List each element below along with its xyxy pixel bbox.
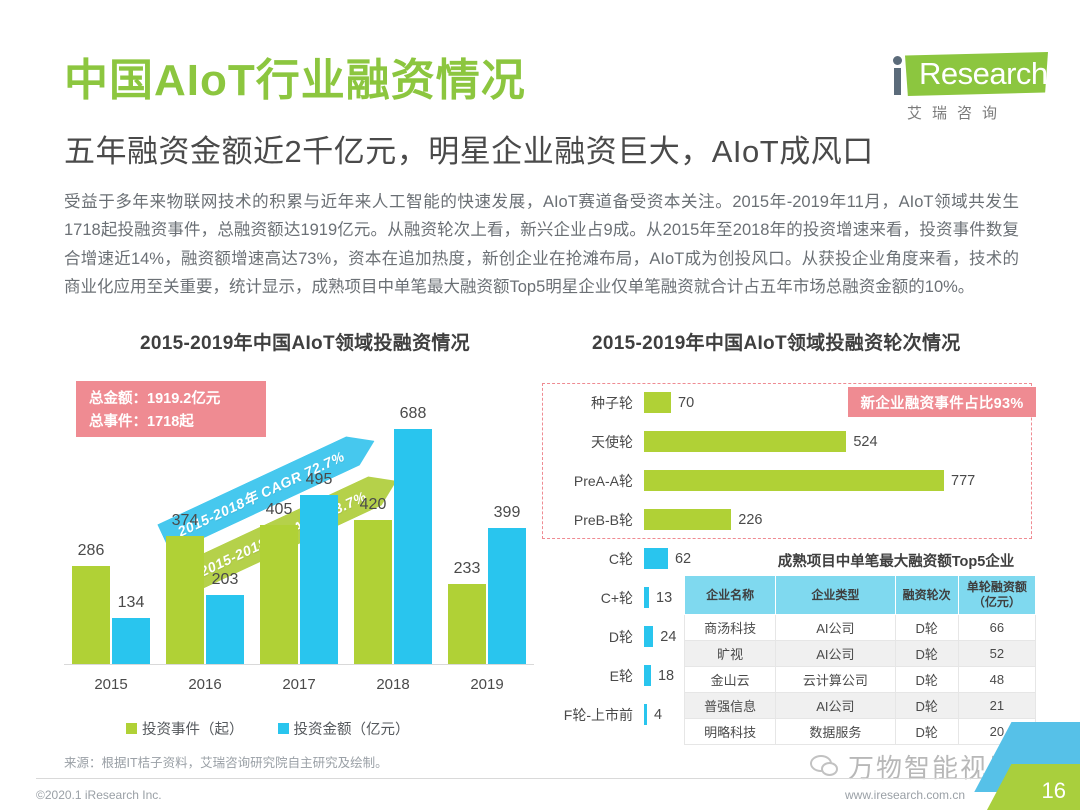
legend-swatch-icon bbox=[278, 723, 289, 734]
round-bar bbox=[644, 665, 651, 686]
bar-amount: 399 bbox=[488, 528, 526, 665]
x-tick-label: 2015 bbox=[64, 676, 158, 693]
table-cell: 52 bbox=[958, 641, 1035, 667]
slide-page: Research 艾瑞咨询 中国AIoT行业融资情况 五年融资金额近2千亿元，明… bbox=[0, 0, 1080, 810]
bar-value-label: 399 bbox=[494, 504, 521, 522]
bar-value-label: 203 bbox=[212, 571, 239, 589]
round-value-label: 524 bbox=[853, 434, 877, 450]
funding-round-row: PreB-B轮226 bbox=[542, 500, 1036, 539]
website-url: www.iresearch.com.cn bbox=[845, 788, 965, 802]
round-label: 天使轮 bbox=[542, 432, 644, 452]
table-cell: 明略科技 bbox=[685, 719, 776, 745]
funding-round-row: PreA-A轮777 bbox=[542, 461, 1036, 500]
round-bar bbox=[644, 704, 647, 725]
legend-label: 投资事件（起） bbox=[142, 718, 244, 739]
bar-value-label: 420 bbox=[360, 496, 387, 514]
round-label: E轮 bbox=[542, 666, 644, 686]
x-tick-label: 2018 bbox=[346, 676, 440, 693]
round-value-label: 4 bbox=[654, 707, 662, 723]
round-value-label: 13 bbox=[656, 590, 672, 606]
bar-value-label: 286 bbox=[78, 542, 105, 560]
bar-amount: 134 bbox=[112, 618, 150, 664]
round-value-label: 70 bbox=[678, 395, 694, 411]
bar-value-label: 374 bbox=[172, 512, 199, 530]
investment-bar-chart: 总金额：1919.2亿元 总事件：1718起 2015-2018年 CAGR 7… bbox=[64, 365, 534, 735]
bar-amount: 688 bbox=[394, 429, 432, 664]
footer-divider bbox=[36, 778, 1044, 779]
bar-group: 374203 bbox=[158, 404, 252, 664]
round-bar bbox=[644, 470, 944, 491]
funding-round-row: 种子轮70 bbox=[542, 383, 1036, 422]
round-label: PreA-A轮 bbox=[542, 471, 644, 491]
right-chart-title: 2015-2019年中国AIoT领域投融资轮次情况 bbox=[592, 328, 961, 355]
table-header-cell: 企业类型 bbox=[776, 576, 895, 615]
logo-chinese-name: 艾瑞咨询 bbox=[907, 102, 1047, 123]
round-label: 种子轮 bbox=[542, 393, 644, 413]
table-header-row: 企业名称企业类型融资轮次单轮融资额（亿元） bbox=[685, 576, 1036, 615]
x-tick-label: 2017 bbox=[252, 676, 346, 693]
round-bar bbox=[644, 548, 668, 569]
page-number: 16 bbox=[1042, 778, 1066, 804]
bar-value-label: 495 bbox=[306, 471, 333, 489]
round-bar bbox=[644, 392, 671, 413]
table-header-cell: 融资轮次 bbox=[895, 576, 958, 615]
table-cell: 旷视 bbox=[685, 641, 776, 667]
logo-wordmark: Research bbox=[919, 56, 1048, 92]
round-bar bbox=[644, 431, 846, 452]
table-cell: D轮 bbox=[895, 719, 958, 745]
bar-amount: 203 bbox=[206, 595, 244, 664]
bar-events: 374 bbox=[166, 536, 204, 664]
table-cell: 普强信息 bbox=[685, 693, 776, 719]
bar-group: 420688 bbox=[346, 404, 440, 664]
wechat-icon bbox=[810, 755, 840, 779]
bar-value-label: 405 bbox=[266, 501, 293, 519]
page-title: 中国AIoT行业融资情况 bbox=[64, 58, 526, 104]
bar-value-label: 688 bbox=[400, 405, 427, 423]
table-cell: 66 bbox=[958, 615, 1035, 641]
round-label: C+轮 bbox=[542, 588, 644, 608]
round-bar bbox=[644, 587, 649, 608]
copyright-text: ©2020.1 iResearch Inc. bbox=[36, 788, 162, 802]
corner-decoration: 16 bbox=[970, 722, 1080, 810]
logo-i-dot-icon bbox=[893, 56, 902, 65]
left-chart-title: 2015-2019年中国AIoT领域投融资情况 bbox=[140, 328, 470, 355]
table-row: 商汤科技AI公司D轮66 bbox=[685, 615, 1036, 641]
table-cell: 云计算公司 bbox=[776, 667, 895, 693]
x-tick-label: 2019 bbox=[440, 676, 534, 693]
bar-groups: 286134374203405495420688233399 bbox=[64, 404, 534, 664]
round-value-label: 18 bbox=[658, 668, 674, 684]
legend-item: 投资金额（亿元） bbox=[278, 718, 410, 739]
bar-amount: 495 bbox=[300, 495, 338, 664]
table-row: 旷视AI公司D轮52 bbox=[685, 641, 1036, 667]
bar-events: 405 bbox=[260, 525, 298, 664]
funding-round-chart: 新企业融资事件占比93% 种子轮70天使轮524PreA-A轮777PreB-B… bbox=[538, 365, 1038, 745]
bar-plot-area: 286134374203405495420688233399 201520162… bbox=[64, 385, 534, 705]
logo-i-stem-icon bbox=[894, 68, 901, 95]
x-tick-label: 2016 bbox=[158, 676, 252, 693]
round-label: D轮 bbox=[542, 627, 644, 647]
top5-table-title: 成熟项目中单笔最大融资额Top5企业 bbox=[751, 550, 1041, 571]
funding-round-row: 天使轮524 bbox=[542, 422, 1036, 461]
x-axis-labels: 20152016201720182019 bbox=[64, 676, 534, 693]
table-cell: 商汤科技 bbox=[685, 615, 776, 641]
table-cell: AI公司 bbox=[776, 641, 895, 667]
round-value-label: 777 bbox=[951, 473, 975, 489]
table-cell: 21 bbox=[958, 693, 1035, 719]
body-paragraph: 受益于多年来物联网技术的积累与近年来人工智能的快速发展，AIoT赛道备受资本关注… bbox=[64, 188, 1019, 302]
legend-swatch-icon bbox=[126, 723, 137, 734]
logo-mark: Research bbox=[885, 48, 1050, 100]
table-row: 金山云云计算公司D轮48 bbox=[685, 667, 1036, 693]
round-label: F轮-上市前 bbox=[542, 705, 644, 725]
table-cell: D轮 bbox=[895, 667, 958, 693]
table-cell: AI公司 bbox=[776, 615, 895, 641]
round-label: PreB-B轮 bbox=[542, 510, 644, 530]
bar-events: 233 bbox=[448, 584, 486, 664]
round-value-label: 226 bbox=[738, 512, 762, 528]
bar-value-label: 233 bbox=[454, 560, 481, 578]
bar-group: 405495 bbox=[252, 404, 346, 664]
table-header-cell: 企业名称 bbox=[685, 576, 776, 615]
bar-events: 286 bbox=[72, 566, 110, 664]
bar-group: 286134 bbox=[64, 404, 158, 664]
iresearch-logo: Research 艾瑞咨询 bbox=[885, 48, 1050, 126]
table-cell: 数据服务 bbox=[776, 719, 895, 745]
round-bar bbox=[644, 509, 731, 530]
top5-companies-table: 企业名称企业类型融资轮次单轮融资额（亿元） 商汤科技AI公司D轮66旷视AI公司… bbox=[684, 575, 1036, 745]
x-axis-line bbox=[64, 664, 534, 665]
round-label: C轮 bbox=[542, 549, 644, 569]
round-value-label: 62 bbox=[675, 551, 691, 567]
legend-item: 投资事件（起） bbox=[126, 718, 244, 739]
round-bar bbox=[644, 626, 653, 647]
bar-value-label: 134 bbox=[118, 594, 145, 612]
table-cell: D轮 bbox=[895, 693, 958, 719]
table-cell: 48 bbox=[958, 667, 1035, 693]
table-row: 普强信息AI公司D轮21 bbox=[685, 693, 1036, 719]
bar-events: 420 bbox=[354, 520, 392, 664]
table-cell: 金山云 bbox=[685, 667, 776, 693]
bar-group: 233399 bbox=[440, 404, 534, 664]
table-cell: AI公司 bbox=[776, 693, 895, 719]
legend-label: 投资金额（亿元） bbox=[294, 718, 410, 739]
page-subtitle: 五年融资金额近2千亿元，明星企业融资巨大，AIoT成风口 bbox=[64, 126, 874, 171]
table-cell: D轮 bbox=[895, 615, 958, 641]
table-header-cell: 单轮融资额（亿元） bbox=[958, 576, 1035, 615]
table-cell: D轮 bbox=[895, 641, 958, 667]
source-note: 来源：根据IT桔子资料，艾瑞咨询研究院自主研究及绘制。 bbox=[64, 752, 388, 771]
round-value-label: 24 bbox=[660, 629, 676, 645]
chart-legend: 投资事件（起）投资金额（亿元） bbox=[126, 718, 410, 739]
